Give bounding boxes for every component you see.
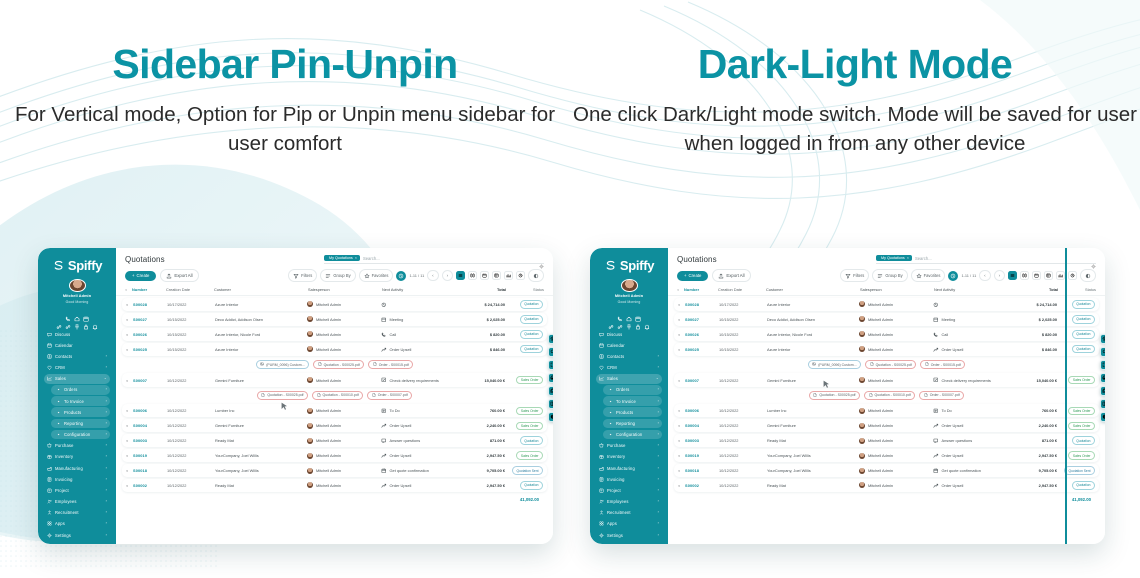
avatar[interactable] (621, 279, 638, 292)
todo-icon (933, 408, 939, 414)
next-page-button[interactable]: › (442, 270, 453, 282)
sidebar-item-products[interactable]: Products› (51, 407, 110, 417)
cell-next-activity: Order Upsell (381, 453, 461, 459)
duplicate-icon-button[interactable] (1100, 386, 1105, 396)
pdf-icon (317, 393, 321, 398)
export-all-button[interactable]: Export All (160, 269, 198, 282)
row-checkbox[interactable]: ○ (678, 438, 685, 443)
calendar-icon[interactable] (83, 309, 89, 315)
sidebar-menu: DiscussCalendarContacts›CRM›Sales⌄Orders… (43, 329, 111, 540)
upsell-icon (381, 483, 387, 489)
chevron-right-icon: › (106, 353, 107, 360)
theme-icon-button[interactable] (1100, 412, 1105, 422)
cell-total: 9,705.00 € (461, 468, 505, 473)
select-all-checkbox[interactable]: ○ (125, 287, 132, 292)
sidebar-item-discuss[interactable]: Discuss (44, 329, 110, 339)
table-row[interactable]: ○S0002510/15/2022Azure InteriorMitchell … (674, 343, 1099, 356)
todo-icon (381, 408, 387, 414)
cell-number: S00007 (133, 378, 167, 383)
sales-icon (599, 376, 604, 381)
link-icon[interactable] (56, 317, 62, 323)
chevron-right-icon: › (658, 420, 659, 427)
search-bar[interactable]: My Quotations×Search... (876, 255, 1096, 264)
quote-icon (933, 468, 939, 474)
row-checkbox[interactable]: ○ (678, 332, 685, 337)
row-checkbox[interactable]: ○ (126, 378, 133, 383)
cell-status: Quotation (505, 436, 543, 444)
chevron-right-icon: › (106, 498, 107, 505)
chevron-right-icon: › (658, 386, 659, 393)
pivot-view-icon-button[interactable] (492, 271, 501, 280)
sidebar-item-sales[interactable]: Sales⌄ (596, 374, 662, 384)
close-icon[interactable]: × (907, 256, 909, 260)
chevron-right-icon: › (658, 442, 659, 449)
salesperson-avatar (307, 408, 313, 414)
inventory-icon (47, 454, 52, 459)
theme-toggle-button[interactable] (528, 269, 544, 282)
chevron-right-icon: › (658, 487, 659, 494)
table-row[interactable]: ○S0001910/12/2022YourCompany, Joel Willi… (122, 449, 547, 462)
filters-button[interactable]: Filters (288, 269, 317, 282)
column-header-creation-date[interactable]: Creation Date (718, 287, 766, 292)
pin-icon[interactable] (626, 317, 632, 323)
cell-customer: Lumber Inc (215, 408, 307, 413)
attachment-chip[interactable]: Order - S00007.pdf (367, 391, 412, 400)
salesperson-name: Mitchell Admin (868, 423, 893, 428)
sidebar-item-inventory[interactable]: Inventory› (596, 452, 662, 462)
main-panel: QuotationsMy Quotations×Search...+Create… (668, 248, 1105, 544)
row-checkbox[interactable]: ○ (126, 317, 133, 322)
sidebar-item-apps[interactable]: Apps› (44, 519, 110, 529)
lock-icon[interactable] (635, 317, 641, 323)
settings-icon-button[interactable] (548, 334, 553, 344)
phone-icon[interactable] (617, 309, 623, 315)
table-row[interactable]: ○S0000210/12/2022Ready MatMitchell Admin… (674, 479, 1099, 492)
column-header-creation-date[interactable]: Creation Date (166, 287, 214, 292)
dot-icon (608, 387, 613, 392)
cell-total: 9,705.00 € (1013, 468, 1057, 473)
cell-customer: Azure Interior (215, 347, 307, 352)
status-badge: Quotation (1072, 300, 1095, 308)
cell-status: Quotation (1057, 300, 1095, 308)
column-header-total[interactable]: Total (462, 287, 506, 292)
row-checkbox[interactable]: ○ (126, 438, 133, 443)
cell-customer: Gemini Furniture (767, 423, 859, 428)
settings-icon-button[interactable] (1100, 334, 1105, 344)
salesperson-name: Mitchell Admin (868, 347, 893, 352)
cell-salesperson: Mitchell Admin (859, 438, 933, 444)
salesperson-avatar (859, 453, 865, 459)
attachment-row: (PURM_0096) Custom...Quotation - S00025.… (122, 358, 547, 372)
table-row[interactable]: ○S0001810/12/2022YourCompany, Joel Willi… (674, 464, 1099, 477)
search-icon-button[interactable] (548, 347, 553, 357)
hero-title-left: Sidebar Pin-Unpin (0, 42, 570, 87)
phone-icon[interactable] (65, 309, 71, 315)
table-row[interactable]: ○S0001910/12/2022YourCompany, Joel Willi… (674, 449, 1099, 462)
check-icon (381, 377, 387, 383)
cell-salesperson: Mitchell Admin (307, 423, 381, 429)
next-activity-label: Answer questions (390, 438, 421, 443)
previous-page-button[interactable]: ‹ (427, 270, 438, 282)
row-checkbox[interactable]: ○ (126, 483, 133, 488)
cell-number: S00004 (133, 423, 167, 428)
layout-icon-button[interactable] (1100, 399, 1105, 409)
table-row[interactable]: ○S0002810/17/2022Azure InteriorMitchell … (674, 298, 1099, 311)
select-all-checkbox[interactable]: ○ (677, 287, 684, 292)
sidebar-item-label: Purchase (607, 442, 655, 449)
row-checkbox[interactable]: ○ (678, 468, 685, 473)
cell-customer: YourCompany, Joel Willis (215, 468, 307, 473)
salesperson-avatar (307, 331, 313, 337)
print-icon-button[interactable] (548, 373, 553, 383)
sidebar-item-label: Manufacturing (55, 465, 103, 472)
favorites-label: Favorites (372, 273, 389, 278)
search-icon-button[interactable] (1100, 347, 1105, 357)
sidebar-item-calendar[interactable]: Calendar (44, 340, 110, 350)
next-page-button[interactable]: › (994, 270, 1005, 282)
cell-salesperson: Mitchell Admin (307, 331, 381, 337)
table-row[interactable]: ○S0002710/15/2022Deco Addict, Addison Ol… (674, 313, 1099, 326)
table-row[interactable]: ○S0000310/12/2022Ready MatMitchell Admin… (674, 434, 1099, 447)
sidebar-item-label: Discuss (607, 331, 659, 338)
pdf-icon (869, 393, 873, 398)
sidebar-item-label: Calendar (55, 342, 107, 349)
cell-salesperson: Mitchell Admin (307, 316, 381, 322)
contacts-icon (47, 354, 52, 359)
home-icon[interactable] (74, 309, 80, 315)
export-all-button[interactable]: Export All (712, 269, 750, 282)
print-icon-button[interactable] (1100, 373, 1105, 383)
table-row[interactable]: ○S0000710/12/2022Gemini FurnitureMitchel… (674, 373, 1099, 386)
create-button[interactable]: +Create (677, 271, 708, 281)
cell-status: Sales Order (1057, 451, 1095, 459)
group-by-button[interactable]: Group By (872, 269, 907, 282)
column-header-number[interactable]: Number (684, 287, 718, 292)
cell-status: Quotation (505, 315, 543, 323)
hero-column-right: Dark-Light Mode One click Dark/Light mod… (570, 0, 1140, 232)
sidebar-item-sales[interactable]: Sales⌄ (44, 374, 110, 384)
cell-customer: Gemini Furniture (215, 378, 307, 383)
sidebar-item-reporting[interactable]: Reporting› (603, 419, 662, 429)
sidebar-item-orders[interactable]: Orders› (51, 385, 110, 395)
sidebar-item-calendar[interactable]: Calendar (596, 340, 662, 350)
link2-icon[interactable] (65, 317, 71, 323)
salesperson-avatar (307, 377, 313, 383)
search-bar[interactable]: My Quotations×Search... (324, 255, 544, 264)
favorites-button[interactable]: Favorites (911, 269, 946, 282)
graph-view-icon-button[interactable] (1056, 271, 1065, 280)
table-row[interactable]: ○S0000610/12/2022Lumber IncMitchell Admi… (674, 404, 1099, 417)
calendar-view-icon-button[interactable] (480, 271, 489, 280)
column-header-customer[interactable]: Customer (766, 287, 860, 292)
attachment-label: Quotation - S00025.pdf (876, 363, 912, 367)
row-checkbox[interactable]: ○ (678, 378, 685, 383)
calendar-icon (47, 343, 52, 348)
status-badge: Quotation (1072, 481, 1095, 489)
sidebar-item-reporting[interactable]: Reporting› (51, 419, 110, 429)
kanban-view-icon-button[interactable] (1020, 271, 1029, 280)
bell-icon[interactable] (644, 317, 650, 323)
sidebar-item-crm[interactable]: CRM› (596, 363, 662, 373)
sidebar-item-orders[interactable]: Orders› (603, 385, 662, 395)
cell-customer: YourCompany, Joel Willis (215, 453, 307, 458)
status-badge: Quotation (520, 330, 543, 338)
row-checkbox[interactable]: ○ (126, 302, 133, 307)
sidebar-item-manufacturing[interactable]: Manufacturing› (44, 463, 110, 473)
table-row[interactable]: ○S0002610/15/2022Azure Interior, Nicole … (122, 328, 547, 341)
link2-icon[interactable] (617, 317, 623, 323)
table-row[interactable]: ○S0002710/15/2022Deco Addict, Addison Ol… (122, 313, 547, 326)
table-row[interactable]: ○S0002610/15/2022Azure Interior, Nicole … (674, 328, 1099, 341)
sidebar-item-configuration[interactable]: Configuration› (51, 430, 110, 440)
refresh-button[interactable] (948, 271, 958, 281)
list-view-icon-button[interactable] (1008, 271, 1017, 280)
table-row[interactable]: ○S0000410/12/2022Gemini FurnitureMitchel… (674, 419, 1099, 432)
cell-status: Sales Order (505, 422, 543, 430)
column-header-next-activity[interactable]: Next Activity (934, 287, 1014, 292)
sidebar-item-purchase[interactable]: Purchase› (44, 441, 110, 451)
chevron-right-icon: › (106, 442, 107, 449)
column-header-status[interactable]: Status (506, 287, 544, 292)
attachment-chip[interactable]: Quotation - S00025.pdf (313, 360, 364, 369)
attachment-chip[interactable]: Order - S00007.pdf (919, 391, 964, 400)
cell-creation-date: 10/12/2022 (167, 408, 215, 413)
attachment-chip[interactable]: Quotation - S00025.pdf (809, 391, 860, 400)
cell-creation-date: 10/15/2022 (719, 347, 767, 352)
column-header-number[interactable]: Number (132, 287, 166, 292)
quotations-table: ○S0002810/17/2022Azure InteriorMitchell … (116, 296, 553, 544)
export-button-label: Export All (174, 273, 192, 278)
sidebar-item-manufacturing[interactable]: Manufacturing› (596, 463, 662, 473)
theme-toggle-button[interactable] (1080, 269, 1096, 282)
expand-icon-button[interactable] (548, 360, 553, 370)
chevron-right-icon: › (106, 532, 107, 539)
attachment-chip[interactable]: (PURM_0096) Custom... (808, 360, 861, 369)
table-row[interactable]: ○S0000410/12/2022Gemini FurnitureMitchel… (122, 419, 547, 432)
kanban-view-icon-button[interactable] (468, 271, 477, 280)
filter-icon (845, 273, 851, 279)
cell-status: Quotation (505, 300, 543, 308)
row-checkbox[interactable]: ○ (678, 302, 685, 307)
cell-customer: Ready Mat (767, 483, 859, 488)
row-checkbox[interactable]: ○ (678, 453, 685, 458)
status-badge: Sales Order (1068, 422, 1095, 430)
dot-icon (56, 410, 61, 415)
theme-icon-button[interactable] (548, 412, 553, 422)
cell-number: S00006 (685, 408, 719, 413)
activity-view-icon-button[interactable] (516, 271, 525, 280)
brand-logo[interactable]: Spiffy (43, 258, 111, 273)
column-header-total[interactable]: Total (1014, 287, 1058, 292)
sidebar-item-project[interactable]: Project› (44, 486, 110, 496)
sidebar-item-invoicing[interactable]: Invoicing› (44, 474, 110, 484)
row-checkbox[interactable]: ○ (678, 408, 685, 413)
sidebar-item-configuration[interactable]: Configuration› (603, 430, 662, 440)
pivot-view-icon-button[interactable] (1044, 271, 1053, 280)
cell-total: $ 2,025.00 (1013, 317, 1057, 322)
list-view-icon-button[interactable] (456, 271, 465, 280)
sidebar-item-inventory[interactable]: Inventory› (44, 452, 110, 462)
quick-actions-row-2 (43, 317, 111, 323)
column-header-next-activity[interactable]: Next Activity (382, 287, 462, 292)
cell-customer: Azure Interior, Nicole Ford (215, 332, 307, 337)
export-button-label: Export All (726, 273, 744, 278)
chevron-right-icon: › (106, 476, 107, 483)
cell-customer: Lumber Inc (767, 408, 859, 413)
app-mockup-right: SpiffyMitchell AdminGood MorningDiscussC… (590, 248, 1105, 544)
pager-label: 1-11 / 11 (409, 273, 424, 278)
table-row[interactable]: ○S0000610/12/2022Lumber IncMitchell Admi… (122, 404, 547, 417)
table-row[interactable]: ○S0002510/15/2022Azure InteriorMitchell … (122, 343, 547, 356)
row-checkbox[interactable]: ○ (678, 347, 685, 352)
table-row[interactable]: ○S0000310/12/2022Ready MatMitchell Admin… (122, 434, 547, 447)
cell-next-activity: Meeting (933, 317, 1013, 323)
next-activity-label: Meeting (942, 317, 956, 322)
sidebar-item-apps[interactable]: Apps› (596, 519, 662, 529)
sidebar-item-recruitment[interactable]: Recruitment› (596, 508, 662, 518)
cell-customer: Ready Mat (767, 438, 859, 443)
cell-salesperson: Mitchell Admin (307, 408, 381, 414)
column-header-status[interactable]: Status (1058, 287, 1096, 292)
chevron-right-icon: › (106, 420, 107, 427)
sidebar-item-label: Employees (607, 498, 655, 505)
table-row[interactable]: ○S0000710/12/2022Gemini FurnitureMitchel… (122, 373, 547, 386)
chevron-right-icon: › (106, 364, 107, 371)
salesperson-name: Mitchell Admin (316, 483, 341, 488)
column-header-customer[interactable]: Customer (214, 287, 308, 292)
close-icon[interactable]: × (355, 256, 357, 260)
people-icon (599, 499, 604, 504)
sidebar-item-contacts[interactable]: Contacts› (596, 351, 662, 361)
avatar[interactable] (69, 279, 86, 292)
crm-icon (47, 365, 52, 370)
cell-creation-date: 10/17/2022 (719, 302, 767, 307)
gear-icon (539, 256, 544, 261)
cell-status: Quotation Sent (505, 466, 543, 474)
search-facet[interactable]: My Quotations× (324, 255, 360, 261)
cell-total: 871.00 € (461, 438, 505, 443)
table-row[interactable]: ○S0001810/12/2022YourCompany, Joel Willi… (122, 464, 547, 477)
cell-number: S00003 (685, 438, 719, 443)
row-checkbox[interactable]: ○ (126, 453, 133, 458)
row-checkbox[interactable]: ○ (126, 332, 133, 337)
row-checkbox[interactable]: ○ (126, 408, 133, 413)
calendar-view-icon-button[interactable] (1032, 271, 1041, 280)
cell-customer: Azure Interior, Nicole Ford (767, 332, 859, 337)
cell-next-activity (381, 302, 461, 308)
column-header-salesperson[interactable]: Salesperson (860, 287, 934, 292)
sidebar-item-to-invoice[interactable]: To Invoice› (603, 396, 662, 406)
row-checkbox[interactable]: ○ (126, 347, 133, 352)
bell-icon[interactable] (92, 317, 98, 323)
favorites-button[interactable]: Favorites (359, 269, 394, 282)
attachment-chip[interactable]: Quotation - S00010.pdf (312, 391, 363, 400)
row-checkbox[interactable]: ○ (126, 468, 133, 473)
attachment-chip[interactable]: Quotation - S00025.pdf (865, 360, 916, 369)
sidebar-item-settings[interactable]: Settings› (596, 530, 662, 540)
search-input[interactable]: Search... (363, 256, 536, 261)
hero-subtitle-left: For Vertical mode, Option for Pip or Unp… (0, 101, 570, 158)
salesperson-avatar (307, 468, 313, 474)
filters-button[interactable]: Filters (840, 269, 869, 282)
sidebar-item-purchase[interactable]: Purchase› (596, 441, 662, 451)
sidebar-item-to-invoice[interactable]: To Invoice› (51, 396, 110, 406)
refresh-button[interactable] (396, 271, 406, 281)
row-checkbox[interactable]: ○ (678, 317, 685, 322)
attachment-chip[interactable]: Order - S00015.pdf (920, 360, 965, 369)
cell-number: S00018 (133, 468, 167, 473)
pdf-icon (372, 393, 376, 398)
salesperson-avatar (859, 301, 865, 307)
duplicate-icon-button[interactable] (548, 386, 553, 396)
cell-number: S00007 (685, 378, 719, 383)
brand-logo[interactable]: Spiffy (595, 258, 663, 273)
layout-icon-button[interactable] (548, 399, 553, 409)
hero-title-right: Dark-Light Mode (570, 42, 1140, 87)
dot-icon (608, 410, 613, 415)
group-by-button[interactable]: Group By (320, 269, 355, 282)
salesperson-name: Mitchell Admin (868, 302, 893, 307)
sidebar-item-contacts[interactable]: Contacts› (44, 351, 110, 361)
home-icon[interactable] (626, 309, 632, 315)
cell-customer: Gemini Furniture (767, 378, 859, 383)
sidebar-item-employees[interactable]: Employees› (596, 497, 662, 507)
pdf-icon (261, 393, 265, 398)
column-header-salesperson[interactable]: Salesperson (308, 287, 382, 292)
row-checkbox[interactable]: ○ (678, 423, 685, 428)
row-checkbox[interactable]: ○ (678, 483, 685, 488)
next-activity-label: Get quote confirmation (942, 468, 981, 473)
attachment-chip[interactable]: (PURM_0096) Custom... (256, 360, 309, 369)
activity-view-icon-button[interactable] (1068, 271, 1077, 280)
search-input[interactable]: Search... (915, 256, 1088, 261)
expand-icon-button[interactable] (1100, 360, 1105, 370)
table-row[interactable]: ○S0000210/12/2022Ready MatMitchell Admin… (122, 479, 547, 492)
previous-page-button[interactable]: ‹ (979, 270, 990, 282)
sidebar-item-project[interactable]: Project› (596, 486, 662, 496)
link-icon[interactable] (608, 317, 614, 323)
sidebar-item-label: Configuration (616, 431, 655, 438)
answer-icon (381, 438, 387, 444)
search-facet[interactable]: My Quotations× (876, 255, 912, 261)
cell-creation-date: 10/12/2022 (719, 408, 767, 413)
sidebar-item-employees[interactable]: Employees› (44, 497, 110, 507)
sidebar-item-crm[interactable]: CRM› (44, 363, 110, 373)
floating-toolbar (1100, 334, 1105, 422)
attachment-chip[interactable]: Order - S00015.pdf (368, 360, 413, 369)
cell-customer: YourCompany, Joel Willis (767, 468, 859, 473)
cell-salesperson: Mitchell Admin (307, 301, 381, 307)
cell-salesperson: Mitchell Admin (859, 377, 933, 383)
calendar-icon[interactable] (635, 309, 641, 315)
table-row[interactable]: ○S0002810/17/2022Azure InteriorMitchell … (122, 298, 547, 311)
sidebar-item-discuss[interactable]: Discuss (596, 329, 662, 339)
attachment-chip[interactable]: Quotation - S00010.pdf (864, 391, 915, 400)
sidebar-item-invoicing[interactable]: Invoicing› (596, 474, 662, 484)
attachment-label: Quotation - S00025.pdf (324, 363, 360, 367)
next-activity-label: Meeting (390, 317, 404, 322)
sidebar-item-products[interactable]: Products› (603, 407, 662, 417)
create-button[interactable]: +Create (125, 271, 156, 281)
lock-icon[interactable] (83, 317, 89, 323)
sidebar-item-settings[interactable]: Settings› (44, 530, 110, 540)
row-checkbox[interactable]: ○ (126, 423, 133, 428)
sidebar-item-label: Invoicing (55, 476, 103, 483)
pin-icon[interactable] (74, 317, 80, 323)
theme-icon (1085, 273, 1091, 279)
sidebar-item-recruitment[interactable]: Recruitment› (44, 508, 110, 518)
graph-view-icon-button[interactable] (504, 271, 513, 280)
